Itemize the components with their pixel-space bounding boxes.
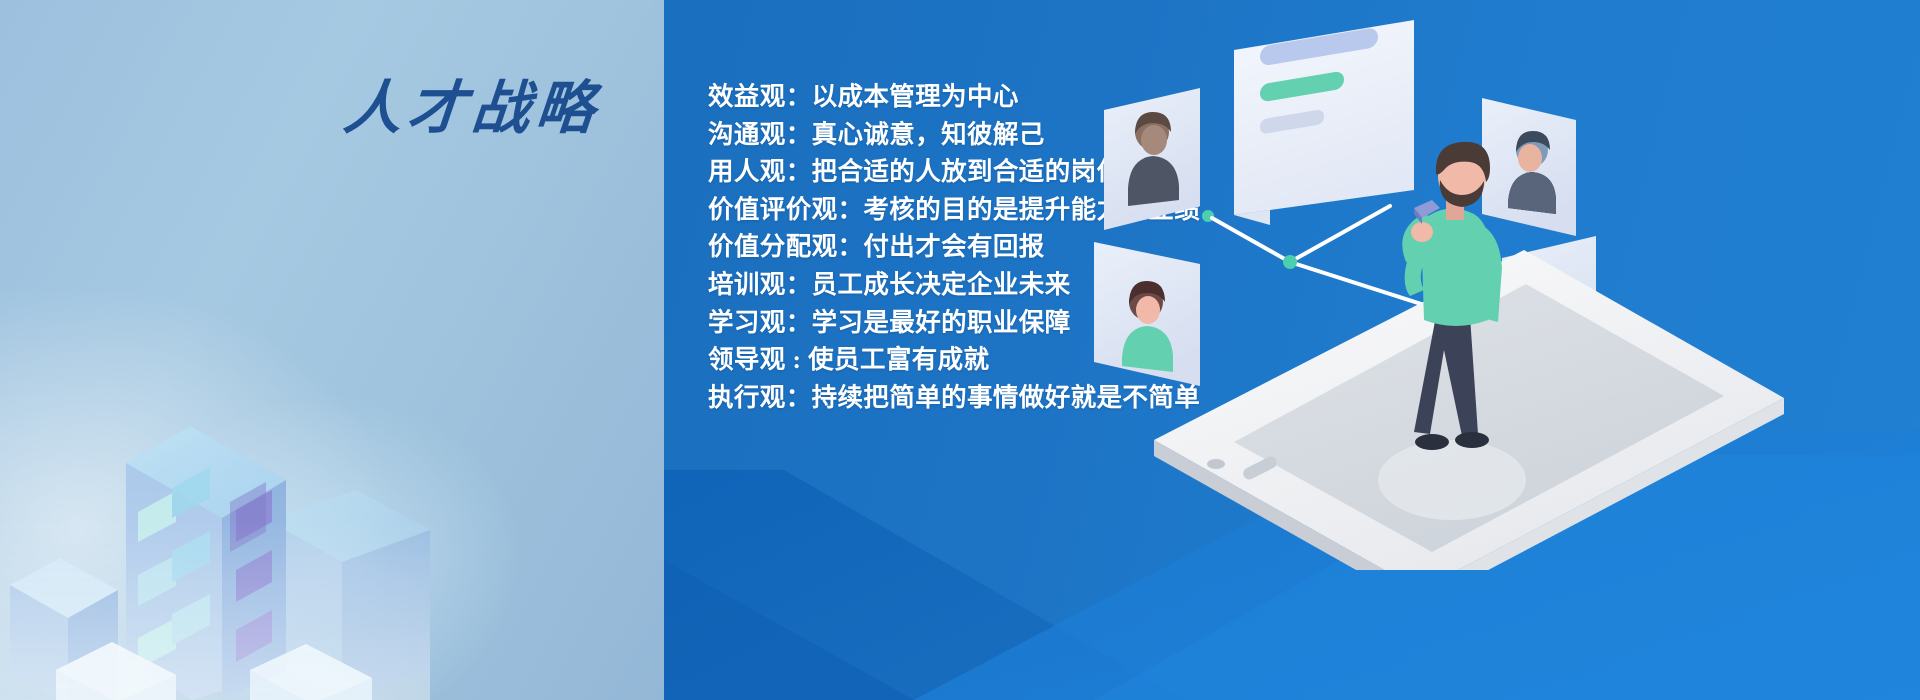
left-panel: 人才战略 [0, 0, 664, 700]
isometric-team-illustration [1084, 10, 1920, 570]
avatar-card-mid-left [1094, 242, 1200, 386]
right-panel: 效益观：以成本管理为中心 沟通观：真心诚意，知彼解己 用人观：把合适的人放到合适… [664, 0, 1920, 700]
page-title: 人才战略 [340, 62, 630, 152]
avatar-card-top-left [1104, 88, 1214, 230]
speech-bubble-card [1234, 20, 1414, 225]
isometric-city-illustration [0, 370, 430, 700]
page-title-text: 人才战略 [341, 76, 604, 141]
slide-canvas: 人才战略 [0, 0, 1920, 700]
